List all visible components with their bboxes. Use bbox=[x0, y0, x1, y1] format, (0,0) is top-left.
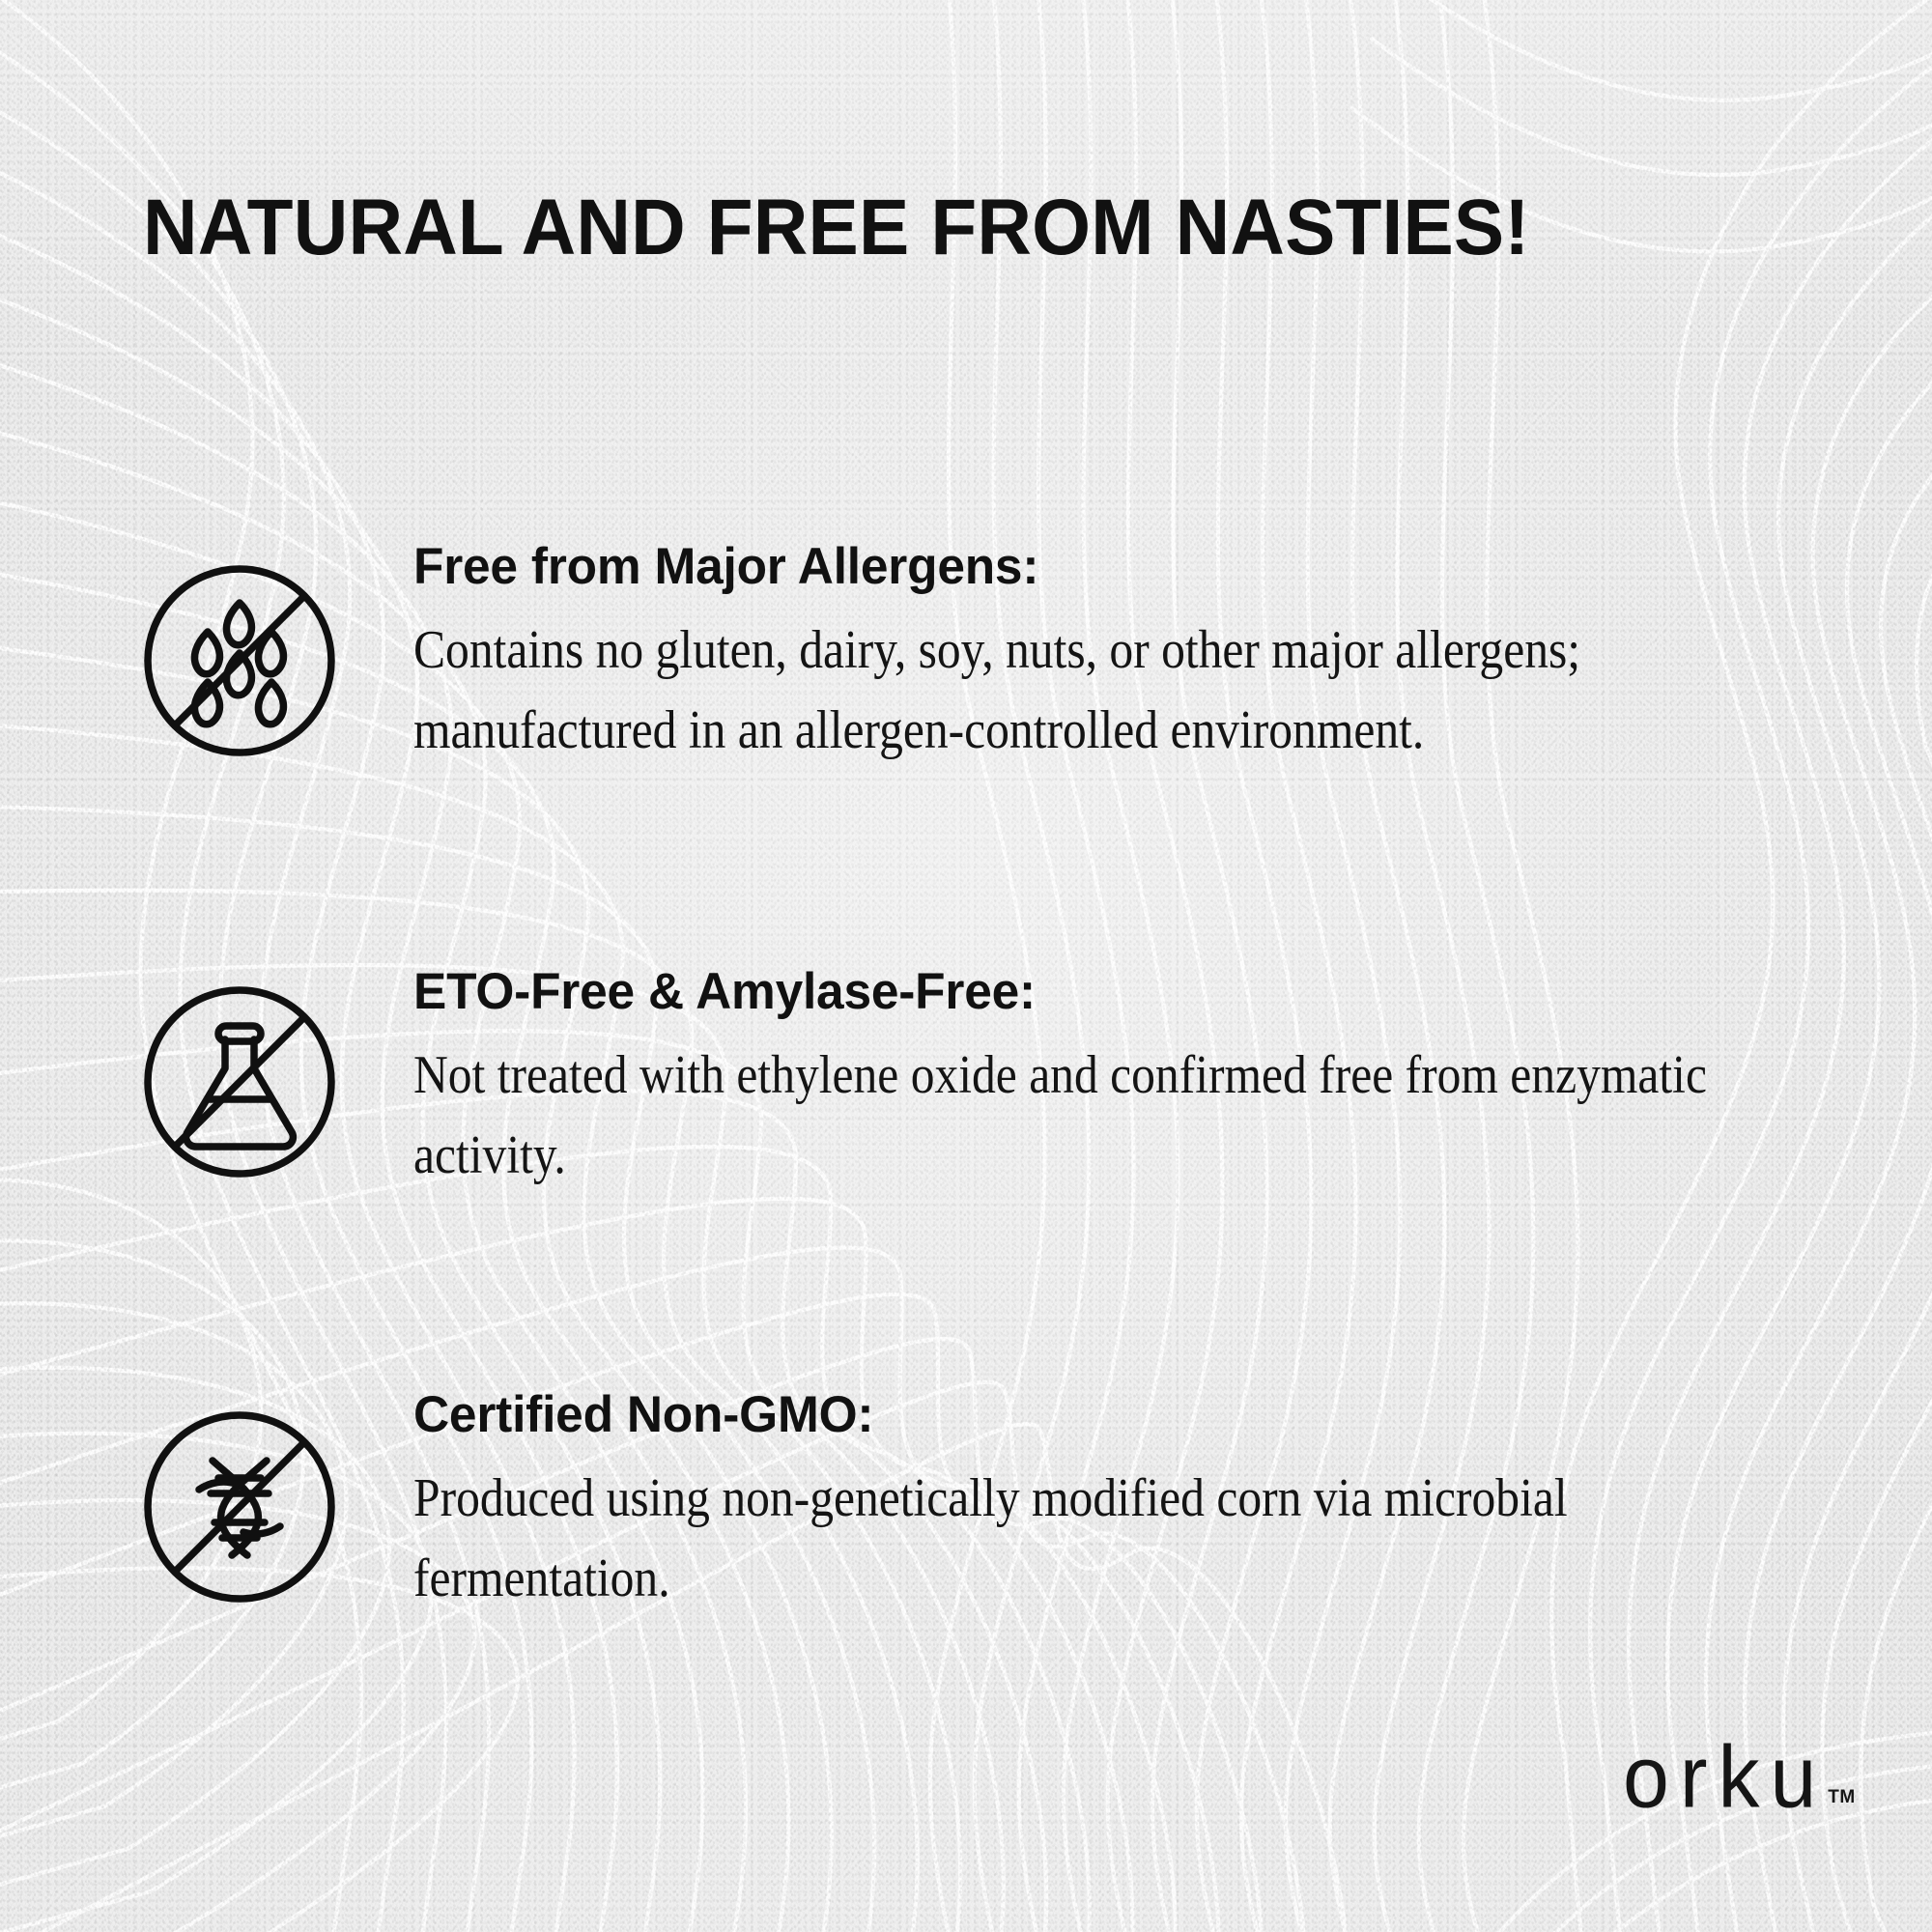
brand-wordmark: orku bbox=[1623, 1741, 1827, 1816]
feature-heading: Free from Major Allergens: bbox=[413, 541, 1744, 592]
feature-body: Contains no gluten, dairy, soy, nuts, or… bbox=[413, 611, 1773, 771]
feature-body: Not treated with ethylene oxide and conf… bbox=[413, 1036, 1773, 1196]
product-claims-poster: NATURAL AND FREE FROM NASTIES! Free from… bbox=[0, 0, 1932, 1932]
feature-text-allergens: Free from Major Allergens: Contains no g… bbox=[413, 541, 1785, 771]
feature-text-eto-amylase: ETO-Free & Amylase-Free: Not treated wit… bbox=[413, 966, 1785, 1196]
feature-heading: Certified Non-GMO: bbox=[413, 1389, 1744, 1440]
no-gmo-dna-icon bbox=[143, 1410, 342, 1609]
trademark-symbol: TM bbox=[1828, 1787, 1855, 1808]
feature-text-non-gmo: Certified Non-GMO: Produced using non-ge… bbox=[413, 1389, 1785, 1619]
feature-heading: ETO-Free & Amylase-Free: bbox=[413, 966, 1744, 1017]
no-chemical-flask-icon bbox=[143, 985, 342, 1184]
feature-body: Produced using non-genetically modified … bbox=[413, 1459, 1773, 1619]
brand-logo: orku TM bbox=[1623, 1745, 1856, 1816]
no-gluten-grain-icon bbox=[143, 564, 342, 763]
page-title: NATURAL AND FREE FROM NASTIES! bbox=[143, 188, 1730, 268]
